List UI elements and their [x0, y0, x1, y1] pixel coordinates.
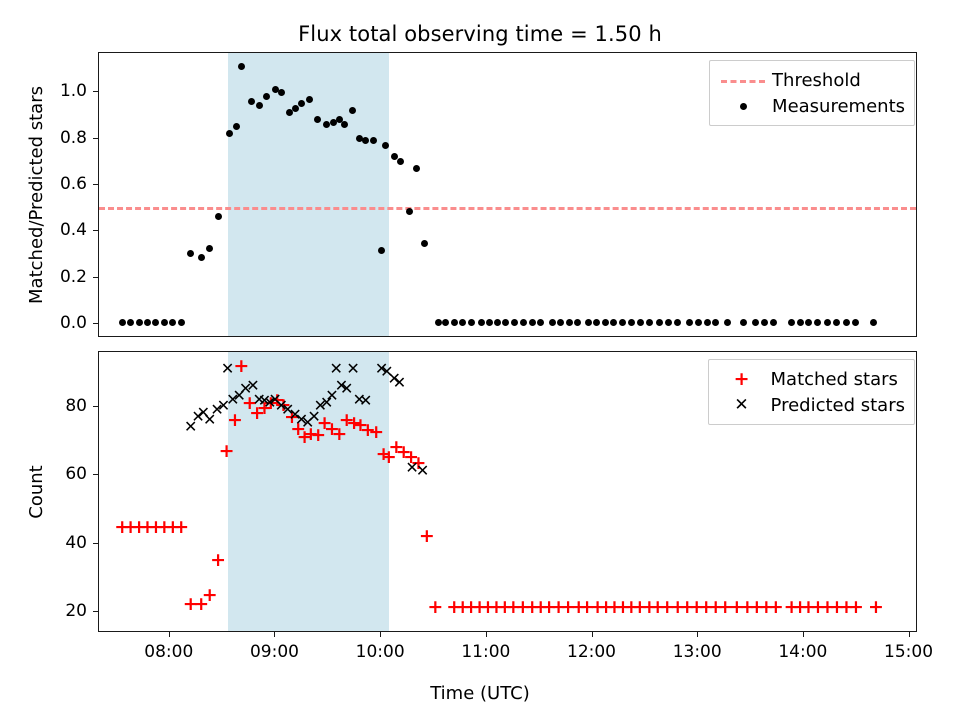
- measurement-point: [574, 319, 581, 326]
- measurement-point: [341, 121, 348, 128]
- measurement-point: [770, 319, 777, 326]
- measurement-point: [852, 319, 859, 326]
- measurement-point: [814, 319, 821, 326]
- measurement-point: [451, 319, 458, 326]
- x-axis-tick-label: 08:00: [144, 642, 193, 662]
- measurement-point: [549, 319, 556, 326]
- predicted-star-marker: ✕: [220, 361, 236, 377]
- predicted-star-marker: ✕: [328, 361, 344, 377]
- measurement-point: [520, 319, 527, 326]
- measurement-point: [619, 319, 626, 326]
- matched-star-marker: +: [848, 599, 864, 615]
- measurement-point: [397, 158, 404, 165]
- top-panel-legend: ThresholdMeasurements: [709, 60, 915, 126]
- measurement-point: [494, 319, 501, 326]
- y-axis-tick: [93, 611, 98, 612]
- measurement-point: [502, 319, 509, 326]
- x-axis-tick: [169, 632, 170, 637]
- measurement-point: [187, 250, 194, 257]
- measurement-point: [870, 319, 877, 326]
- measurement-point: [511, 319, 518, 326]
- predicted-star-marker: ✕: [345, 361, 361, 377]
- matched-star-marker: +: [768, 599, 784, 615]
- measurement-point: [712, 319, 719, 326]
- measurement-point: [752, 319, 759, 326]
- measurement-point: [136, 319, 143, 326]
- dot-marker-icon: [718, 95, 768, 117]
- measurement-point: [537, 319, 544, 326]
- y-axis-tick-label: 40: [0, 533, 87, 553]
- matched-star-marker: +: [202, 587, 218, 603]
- x-axis-tick-label: 13:00: [673, 642, 722, 662]
- measurement-point: [198, 254, 205, 261]
- measurement-point: [824, 319, 831, 326]
- matched-star-marker: +: [427, 599, 443, 615]
- threshold-line: [99, 207, 916, 210]
- y-axis-tick-label: 60: [0, 464, 87, 484]
- measurement-point: [314, 116, 321, 123]
- matched-star-marker: +: [173, 519, 189, 535]
- cross-marker-icon: ✕: [717, 394, 767, 416]
- measurement-point: [585, 319, 592, 326]
- measurement-point: [459, 319, 466, 326]
- measurement-point: [761, 319, 768, 326]
- matched-star-marker: +: [219, 443, 235, 459]
- x-axis-tick-label: 15:00: [884, 642, 933, 662]
- measurement-point: [292, 105, 299, 112]
- x-axis-tick: [803, 632, 804, 637]
- measurement-point: [602, 319, 609, 326]
- measurement-point: [233, 123, 240, 130]
- dashed-line-swatch: [721, 80, 765, 83]
- measurement-point: [593, 319, 600, 326]
- measurement-point: [349, 107, 356, 114]
- y-axis-tick: [93, 91, 98, 92]
- matched-star-marker: +: [233, 358, 249, 374]
- measurement-point: [370, 137, 377, 144]
- matched-star-marker: +: [868, 599, 884, 615]
- x-axis-tick-label: 11:00: [461, 642, 510, 662]
- measurement-point: [695, 319, 702, 326]
- measurement-point: [206, 245, 213, 252]
- y-axis-tick-label: 0.0: [0, 313, 87, 333]
- measurement-point: [665, 319, 672, 326]
- measurement-point: [413, 165, 420, 172]
- cross-marker-swatch: ✕: [734, 395, 748, 415]
- predicted-star-marker: ✕: [358, 393, 374, 409]
- measurement-point: [169, 319, 176, 326]
- measurement-point: [468, 319, 475, 326]
- measurement-point: [656, 319, 663, 326]
- legend-entry: +Matched stars: [717, 366, 905, 392]
- y-axis-tick: [93, 323, 98, 324]
- x-axis-tick-label: 09:00: [250, 642, 299, 662]
- measurement-point: [628, 319, 635, 326]
- measurement-point: [382, 142, 389, 149]
- matched-star-marker: +: [210, 552, 226, 568]
- y-axis-tick: [93, 474, 98, 475]
- measurement-point: [161, 319, 168, 326]
- y-axis-tick-label: 0.8: [0, 128, 87, 148]
- y-axis-tick: [93, 406, 98, 407]
- measurement-point: [805, 319, 812, 326]
- y-axis-tick: [93, 184, 98, 185]
- measurement-point: [298, 100, 305, 107]
- matched-star-marker: +: [368, 424, 384, 440]
- y-axis-tick-label: 0.2: [0, 267, 87, 287]
- measurement-point: [704, 319, 711, 326]
- measurement-point: [278, 89, 285, 96]
- y-axis-tick-label: 80: [0, 396, 87, 416]
- measurement-point: [127, 319, 134, 326]
- measurement-point: [557, 319, 564, 326]
- plus-marker-icon: +: [717, 368, 767, 390]
- matched-star-marker: +: [419, 528, 435, 544]
- x-axis-label: Time (UTC): [0, 683, 960, 704]
- legend-label: Threshold: [768, 70, 861, 91]
- measurement-point: [674, 319, 681, 326]
- legend-label: Matched stars: [767, 369, 898, 390]
- measurement-point: [406, 208, 413, 215]
- x-axis-tick: [274, 632, 275, 637]
- measurement-point: [478, 319, 485, 326]
- predicted-star-marker: ✕: [415, 463, 431, 479]
- measurement-point: [306, 96, 313, 103]
- measurement-point: [740, 319, 747, 326]
- legend-entry: ✕Predicted stars: [717, 392, 905, 418]
- y-axis-tick-label: 0.4: [0, 220, 87, 240]
- measurement-point: [833, 319, 840, 326]
- legend-label: Predicted stars: [767, 395, 905, 416]
- measurement-point: [724, 319, 731, 326]
- predicted-star-marker: ✕: [391, 375, 407, 391]
- measurement-point: [421, 240, 428, 247]
- x-axis-tick-label: 10:00: [356, 642, 405, 662]
- measurement-point: [442, 319, 449, 326]
- measurement-point: [610, 319, 617, 326]
- measurement-point: [435, 319, 442, 326]
- y-axis-tick-label: 0.6: [0, 174, 87, 194]
- bottom-panel-legend: +Matched stars✕Predicted stars: [708, 359, 915, 425]
- y-axis-tick: [93, 138, 98, 139]
- x-axis-tick: [486, 632, 487, 637]
- plus-marker-swatch: +: [734, 368, 750, 390]
- figure-title: Flux total observing time = 1.50 h: [0, 22, 960, 46]
- legend-entry: Measurements: [718, 93, 905, 119]
- measurement-point: [637, 319, 644, 326]
- measurement-point: [843, 319, 850, 326]
- x-axis-tick-label: 14:00: [778, 642, 827, 662]
- legend-entry: Threshold: [718, 67, 905, 93]
- measurement-point: [152, 319, 159, 326]
- legend-label: Measurements: [768, 96, 905, 117]
- measurement-point: [178, 319, 185, 326]
- measurement-point: [566, 319, 573, 326]
- x-axis-tick: [592, 632, 593, 637]
- measurement-point: [486, 319, 493, 326]
- measurement-point: [529, 319, 536, 326]
- y-axis-tick-label: 20: [0, 601, 87, 621]
- measurement-point: [788, 319, 795, 326]
- y-axis-tick: [93, 543, 98, 544]
- measurement-point: [646, 319, 653, 326]
- measurement-point: [686, 319, 693, 326]
- y-axis-tick-label: 1.0: [0, 81, 87, 101]
- x-axis-tick: [909, 632, 910, 637]
- x-axis-tick: [380, 632, 381, 637]
- measurement-point: [119, 319, 126, 326]
- x-axis-tick-label: 12:00: [567, 642, 616, 662]
- measurement-point: [797, 319, 804, 326]
- measurement-point: [215, 213, 222, 220]
- dot-marker-swatch: [740, 103, 747, 110]
- measurement-point: [144, 319, 151, 326]
- x-axis-tick: [697, 632, 698, 637]
- dashed-line-icon: [718, 69, 768, 91]
- figure-canvas: Flux total observing time = 1.50 h Match…: [0, 0, 960, 720]
- y-axis-tick: [93, 277, 98, 278]
- y-axis-tick: [93, 230, 98, 231]
